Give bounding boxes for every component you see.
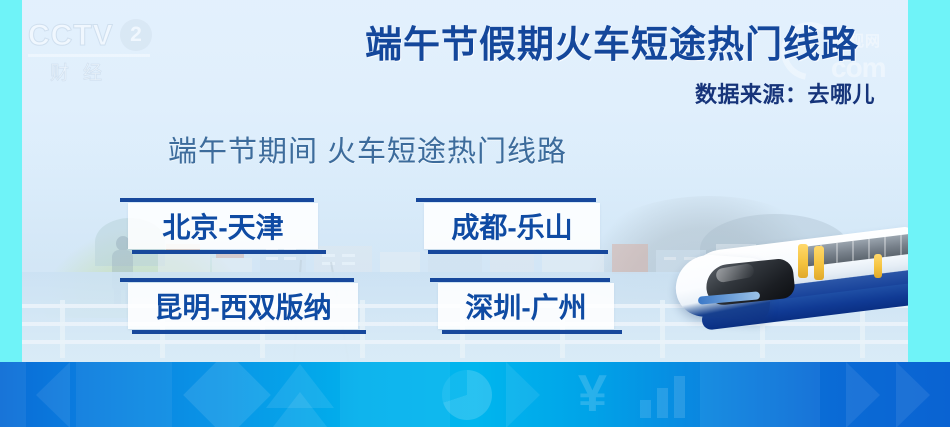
chevron-left-icon	[896, 362, 930, 427]
diamond-icon	[183, 362, 271, 427]
route-card-chengdu-leshan[interactable]: 成都-乐山	[424, 203, 600, 249]
route-label: 成都-乐山	[451, 206, 572, 246]
left-cyan-strip	[0, 0, 22, 362]
train-door-left	[798, 244, 808, 278]
headline-block: 端午节假期火车短途热门线路 数据来源：去哪儿	[365, 22, 905, 109]
route-row: 昆明-西双版纳 深圳-广州	[128, 283, 628, 345]
yen-symbol-icon: ¥	[578, 364, 607, 424]
triangle-up-icon	[266, 392, 334, 427]
bar-chart-icon	[640, 374, 685, 418]
broadcast-screenshot: CCTV 2 财经 央视网 com 端午节假期火车短途热门线路 数据来源：去哪儿…	[0, 0, 950, 427]
bottom-decorative-bar: ¥	[0, 362, 950, 427]
cctv-logo-subtitle: 财经	[50, 58, 116, 85]
section-subheading: 端午节期间 火车短途热门线路	[168, 128, 567, 170]
route-card-beijing-tianjin[interactable]: 北京-天津	[128, 203, 318, 249]
route-row: 北京-天津 成都-乐山	[128, 203, 628, 265]
train-door-mid	[874, 254, 882, 278]
route-label: 昆明-西双版纳	[154, 286, 331, 326]
cctv-logo-underline	[28, 54, 150, 57]
chevron-left-icon	[846, 362, 880, 427]
pie-chart-icon	[442, 370, 492, 420]
route-label: 北京-天津	[162, 206, 283, 246]
chevron-left-icon	[506, 362, 540, 427]
high-speed-train-illustration	[676, 218, 926, 338]
chevron-right-icon	[36, 362, 70, 427]
route-list: 北京-天津 成都-乐山 昆明-西双版纳 深圳-广州	[128, 203, 628, 345]
train-door-right	[814, 246, 824, 280]
data-source-note: 数据来源：去哪儿	[365, 77, 905, 109]
route-card-shenzhen-guangzhou[interactable]: 深圳-广州	[438, 283, 614, 329]
route-card-kunming-xishuangbanna[interactable]: 昆明-西双版纳	[128, 283, 358, 329]
cctv-channel-logo: CCTV 2 财经	[28, 20, 158, 82]
cctv-channel-number: 2	[120, 19, 152, 51]
route-label: 深圳-广州	[465, 286, 586, 326]
page-title: 端午节假期火车短途热门线路	[365, 22, 905, 68]
